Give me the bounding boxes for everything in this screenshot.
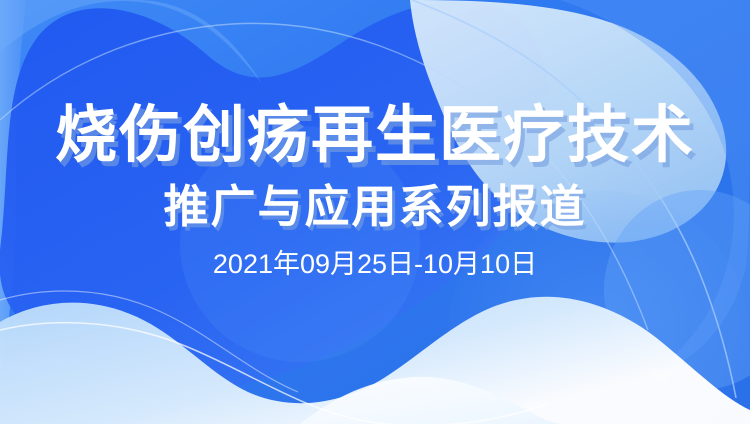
banner-title-sub: 推广与应用系列报道: [163, 180, 586, 234]
promo-banner: 烧伤创疡再生医疗技术 推广与应用系列报道 2021年09月25日-10月10日: [0, 0, 750, 424]
banner-date-range: 2021年09月25日-10月10日: [213, 248, 537, 280]
banner-text-layer: 烧伤创疡再生医疗技术 推广与应用系列报道 2021年09月25日-10月10日: [0, 0, 750, 424]
banner-title-main: 烧伤创疡再生医疗技术: [55, 100, 695, 172]
